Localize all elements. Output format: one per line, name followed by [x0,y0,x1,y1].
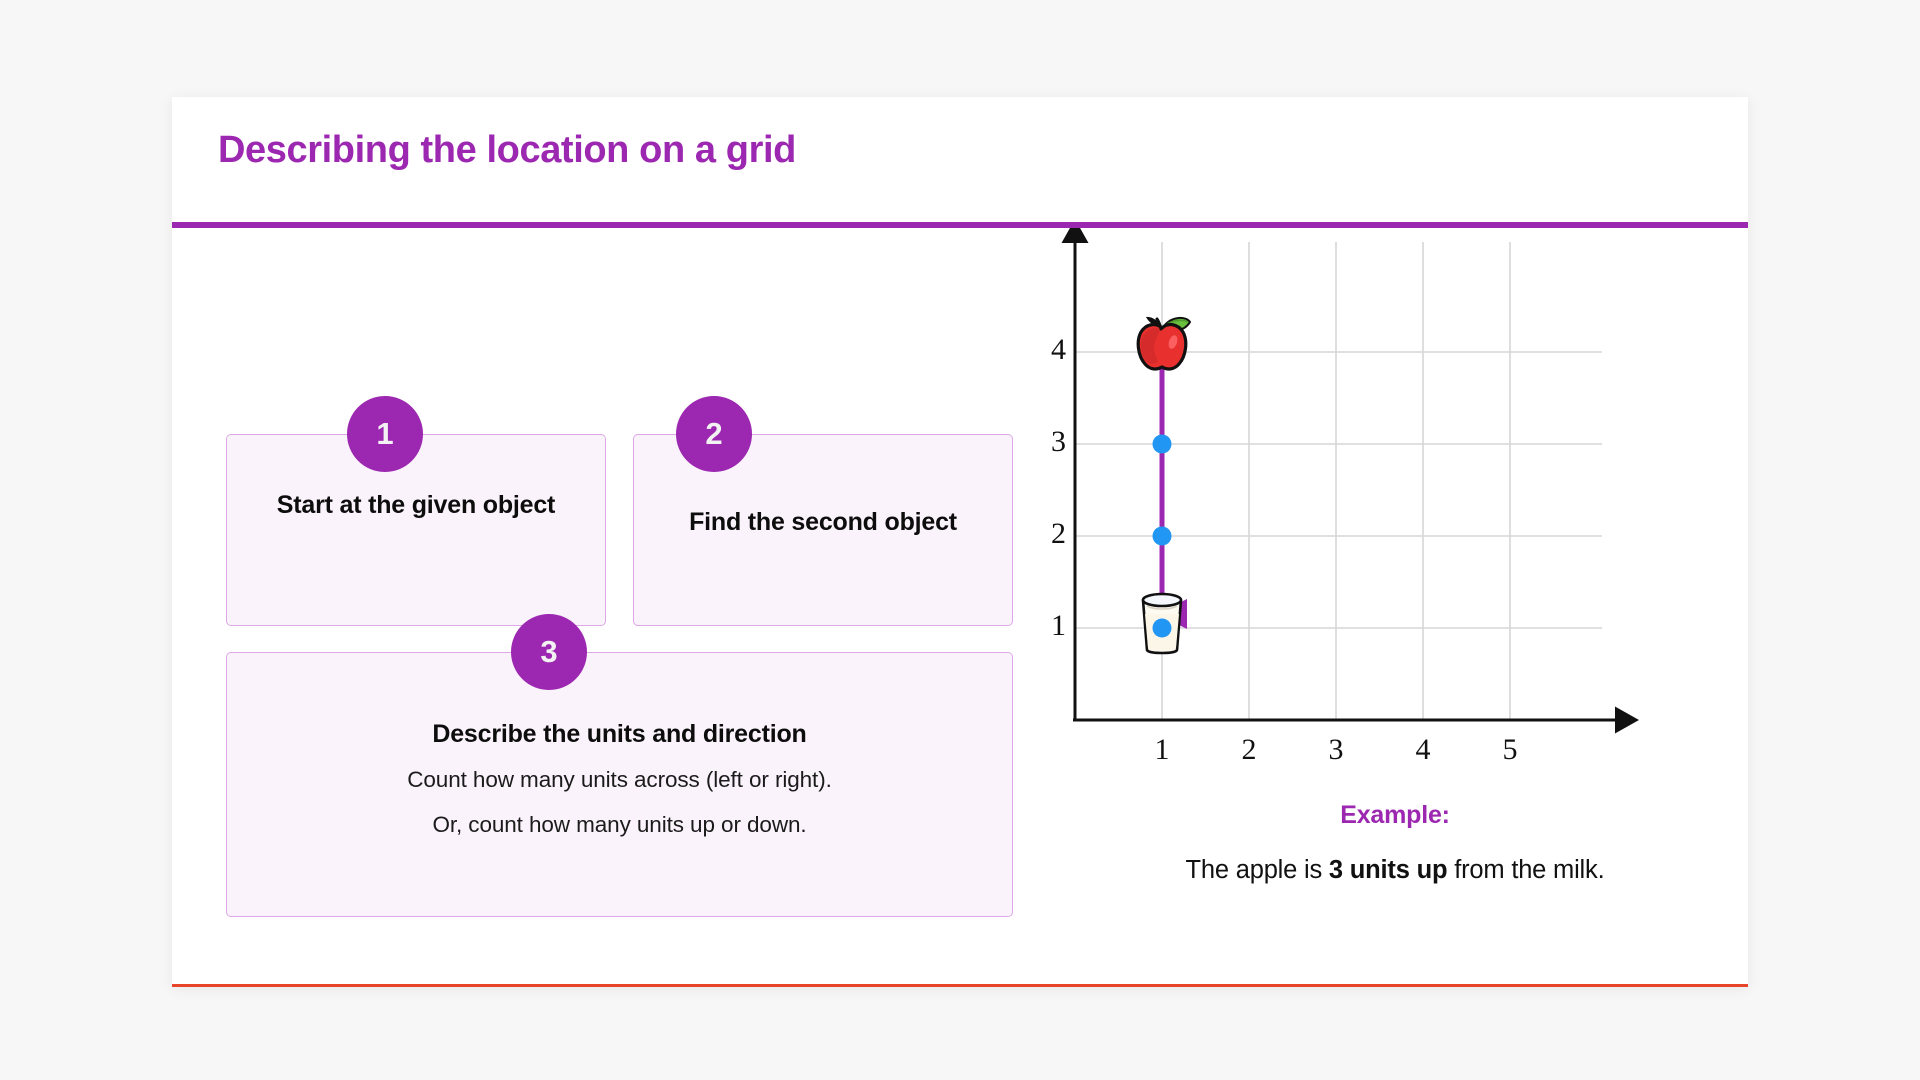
step-box-3: Describe the units and direction Count h… [226,652,1013,917]
step-3-heading: Describe the units and direction [227,710,1012,759]
step-2-heading: Find the second object [634,498,1012,547]
card-header: Describing the location on a grid [172,97,1748,225]
caption-prefix: The apple is [1186,856,1329,884]
step-badge-2: 2 [676,396,752,472]
y-tick-label-1: 1 [1026,609,1066,643]
step-3-detail-line-1: Count how many units across (left or rig… [227,767,1012,793]
x-tick-label-2: 2 [1229,733,1269,767]
y-tick-label-3: 3 [1026,425,1066,459]
grid-lines-horizontal [1075,352,1602,628]
coordinate-grid-chart [1042,228,1748,788]
step-3-detail-line-2: Or, count how many units up or down. [227,812,1012,838]
steps-area: Start at the given object 1 Find the sec… [172,228,1042,984]
caption-bold: 3 units up [1329,856,1447,884]
step-badge-3: 3 [511,614,587,690]
example-caption: The apple is 3 units up from the milk. [1042,856,1748,885]
x-tick-label-1: 1 [1142,733,1182,767]
grid-lines-vertical [1162,242,1510,720]
step-box-1: Start at the given object [226,434,606,626]
slide-card: Describing the location on a grid Start … [172,97,1748,987]
graph-area: 4 3 2 1 1 2 3 4 5 Example: The apple is … [1042,228,1748,984]
y-tick-label-4: 4 [1026,333,1066,367]
data-point-1-2 [1153,527,1172,546]
x-tick-label-5: 5 [1490,733,1530,767]
x-tick-label-4: 4 [1403,733,1443,767]
x-tick-label-3: 3 [1316,733,1356,767]
data-point-1-3 [1153,435,1172,454]
data-point-1-1 [1153,619,1172,638]
step-badge-1: 1 [347,396,423,472]
y-tick-label-2: 2 [1026,517,1066,551]
apple-icon [1138,317,1190,369]
page-title: Describing the location on a grid [218,129,796,172]
example-label: Example: [1042,801,1748,830]
step-1-heading: Start at the given object [227,481,605,530]
caption-suffix: from the milk. [1447,856,1604,884]
